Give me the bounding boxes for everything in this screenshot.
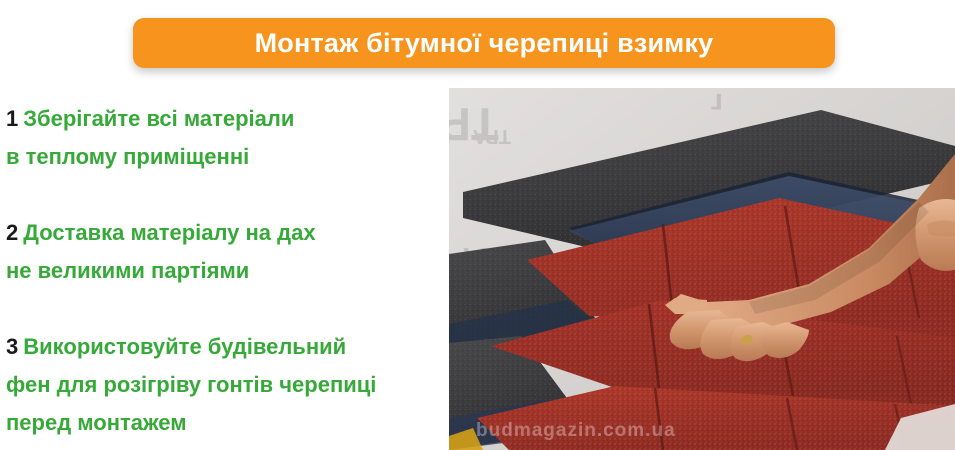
list-item: 2Доставка матеріалу на дах не великими п… (6, 214, 452, 290)
step-line: 2Доставка матеріалу на дах (6, 214, 452, 252)
list-item: 1Зберігайте всі матеріали в теплому прим… (6, 100, 452, 176)
title-banner: Монтаж бітумної черепиці взимку (133, 18, 835, 68)
step-line: 1Зберігайте всі матеріали (6, 100, 452, 138)
step-line: перед монтажем (6, 404, 452, 442)
step-line: 3Використовуйте будівельний (6, 328, 452, 366)
step-text: перед монтажем (6, 410, 187, 435)
step-line: в теплому приміщенні (6, 138, 452, 176)
step-text: Доставка матеріалу на дах (23, 220, 315, 245)
list-item: 3Використовуйте будівельний фен для розі… (6, 328, 452, 442)
step-line: фен для розігріву гонтів черепиці (6, 366, 452, 404)
step-text: Використовуйте будівельний (23, 334, 346, 359)
step-number: 2 (6, 220, 18, 245)
svg-text:г: г (711, 88, 724, 120)
step-text: Зберігайте всі матеріали (23, 106, 294, 131)
step-text: фен для розігріву гонтів черепиці (6, 372, 376, 397)
step-number: 3 (6, 334, 18, 359)
roof-photo-illustration: ТРА ТРА А г (449, 88, 955, 450)
step-text: не великими партіями (6, 258, 249, 283)
page-title: Монтаж бітумної черепиці взимку (255, 30, 714, 57)
steps-list: 1Зберігайте всі матеріали в теплому прим… (6, 100, 452, 442)
infographic-root: Монтаж бітумної черепиці взимку 1Зберіга… (0, 0, 955, 450)
step-number: 1 (6, 106, 18, 131)
svg-text:ТРА: ТРА (473, 125, 511, 147)
step-line: не великими партіями (6, 252, 452, 290)
roof-installation-photo: ТРА ТРА А г (449, 88, 955, 450)
step-text: в теплому приміщенні (6, 144, 249, 169)
